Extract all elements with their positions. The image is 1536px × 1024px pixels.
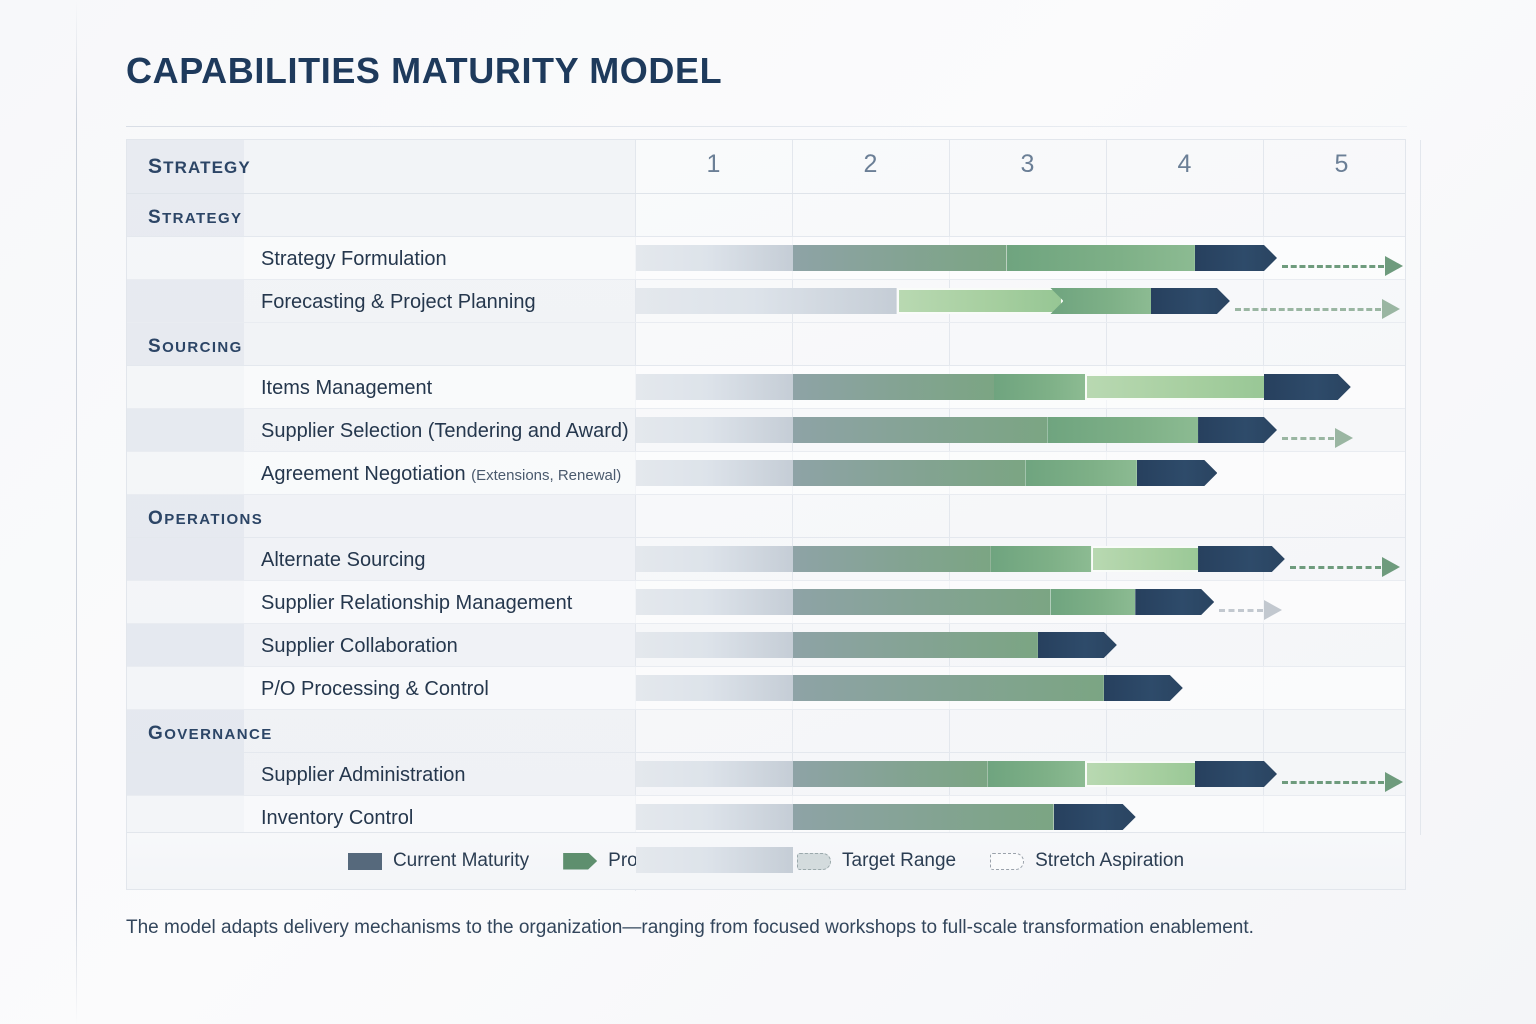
arrow-tip-icon [1382,557,1400,577]
section-header-strategy: STRATEGY [127,194,1405,237]
bar-segment-current [1135,589,1214,615]
stretch-aspiration-arrow [1219,609,1272,611]
maturity-bar[interactable] [636,417,1421,443]
maturity-bar[interactable] [636,288,1421,314]
table-row[interactable]: Agreement Negotiation (Extensions, Renew… [127,452,1405,495]
maturity-bar[interactable] [636,675,1421,701]
table-row[interactable]: Supplier Relationship Management [127,581,1405,624]
bar-track [635,538,1395,581]
section-title: SOURCING [148,336,243,358]
stretch-line [1219,609,1263,612]
column-header-level-1: 1 [635,150,792,179]
bar-segment-progress [793,761,988,787]
bar-segment-progress [793,374,994,400]
maturity-bar[interactable] [636,761,1421,787]
slide-background: Capabilities Maturity Model STRATEGY 123… [0,0,1536,1024]
section-header-sourcing: SOURCING [127,323,1405,366]
bar-segment-target [1085,374,1277,400]
bar-segment-baseline [636,675,793,701]
table-row[interactable]: Forecasting & Project Planning [127,280,1405,323]
bar-segment-progress [1050,589,1135,615]
table-row[interactable]: Supplier Collaboration [127,624,1405,667]
title-divider [126,126,1407,127]
bar-segment-baseline [636,245,793,271]
bar-segment-progress [988,761,1085,787]
row-label: Forecasting & Project Planning [261,291,536,314]
row-label: Supplier Relationship Management [261,592,572,615]
section-title: GOVERNANCE [148,723,273,745]
row-label: Supplier Selection (Tendering and Award) [261,420,629,443]
bar-segment-current [1198,546,1285,572]
table-row[interactable]: Supplier Administration [127,753,1405,796]
bar-track [635,667,1395,710]
bar-segment-progress [793,589,1050,615]
row-label: Items Management [261,377,432,400]
column-header-level-2: 2 [792,150,949,179]
arrow-tip-icon [1335,428,1353,448]
bar-segment-progress [793,632,1038,658]
legend-item-stretch-aspiration: Stretch Aspiration [990,850,1184,872]
legend-label: Target Range [842,850,956,872]
bar-segment-current [1195,761,1277,787]
stretch-aspiration-arrow [1282,437,1343,439]
bar-segment-progress [793,546,991,572]
column-header-level-4: 4 [1106,150,1263,179]
bar-segment-baseline [636,374,793,400]
bar-segment-progress [1007,245,1195,271]
stretch-line [1282,781,1384,784]
row-label: P/O Processing & Control [261,678,489,701]
legend-item-target-range: Target Range [797,850,956,872]
bar-track [635,753,1395,796]
bar-track [635,366,1395,409]
row-label: Supplier Administration [261,764,466,787]
bar-segment-progress [1050,288,1150,314]
section-title: STRATEGY [148,207,242,229]
row-label: Inventory Control [261,807,413,830]
stretch-line [1290,566,1381,569]
page-title: Capabilities Maturity Model [126,50,722,92]
bar-segment-baseline [636,847,793,873]
legend-item-current-maturity: Current Maturity [348,850,529,872]
stretch-line [1282,265,1384,268]
row-label: Alternate Sourcing [261,549,426,572]
bar-track [635,452,1395,495]
bar-segment-progress [994,374,1085,400]
arrow-tip-icon [1385,772,1403,792]
stretch-aspiration-arrow [1290,566,1390,568]
legend-label: Current Maturity [393,850,529,872]
bar-segment-baseline [636,546,793,572]
bar-segment-baseline [636,804,793,830]
maturity-bar[interactable] [636,460,1421,486]
table-row[interactable]: Strategy Formulation [127,237,1405,280]
stretch-aspiration-arrow [1235,308,1390,310]
row-label: Agreement Negotiation (Extensions, Renew… [261,463,621,486]
bar-segment-current [1195,245,1277,271]
bar-segment-baseline [636,761,793,787]
row-label: Supplier Collaboration [261,635,458,658]
bar-segment-current [1198,417,1277,443]
bar-track [635,237,1395,280]
bar-segment-progress [991,546,1091,572]
arrow-tip-icon [1264,600,1282,620]
bar-segment-current [1104,675,1183,701]
bar-track [635,624,1395,667]
table-row[interactable]: Items Management [127,366,1405,409]
bar-track [635,581,1395,624]
row-label: Strategy Formulation [261,248,447,271]
bar-track [635,280,1395,323]
bar-segment-progress [1025,460,1136,486]
stretch-aspiration-arrow [1282,781,1393,783]
bar-segment-baseline [636,288,897,314]
legend-swatch-icon [348,853,382,870]
maturity-bar[interactable] [636,245,1421,271]
maturity-bar[interactable] [636,632,1421,658]
column-header-level-3: 3 [949,150,1106,179]
maturity-bar[interactable] [636,374,1421,400]
bar-segment-progress [793,675,1104,701]
maturity-bar[interactable] [636,546,1421,572]
maturity-bar[interactable] [636,804,1421,830]
bar-track [635,409,1395,452]
bar-segment-target [897,288,1064,314]
section-header-operations: OPERATIONS [127,495,1405,538]
bar-segment-current [1137,460,1218,486]
table-row[interactable]: Alternate Sourcing [127,538,1405,581]
bar-segment-target [1085,761,1208,787]
table-row[interactable]: P/O Processing & Control [127,667,1405,710]
bar-segment-current [1264,374,1351,400]
bar-segment-progress [1047,417,1198,443]
legend-swatch-icon [797,853,831,870]
legend-swatch-icon [990,853,1024,870]
bar-segment-current [1038,632,1117,658]
header-corner-label: STRATEGY [148,155,251,179]
maturity-table: STRATEGY 12345 STRATEGYStrategy Formulat… [126,139,1406,890]
footer-note: The model adapts delivery mechanisms to … [126,908,1366,948]
arrow-tip-icon [1385,256,1403,276]
column-header-level-5: 5 [1263,150,1420,179]
bar-segment-progress [793,460,1025,486]
bar-segment-progress [793,245,1007,271]
bar-segment-target [1091,546,1211,572]
stretch-line [1282,437,1334,440]
bar-segment-current [1054,804,1136,830]
stretch-line [1235,308,1381,311]
table-row[interactable]: Supplier Selection (Tendering and Award) [127,409,1405,452]
legend-swatch-icon [563,853,597,870]
section-title: OPERATIONS [148,508,263,530]
bar-segment-baseline [636,417,793,443]
table-header: STRATEGY 12345 [127,140,1405,193]
arrow-tip-icon [1382,299,1400,319]
section-header-governance: GOVERNANCE [127,710,1405,753]
bar-segment-baseline [636,589,793,615]
legend-label: Stretch Aspiration [1035,850,1184,872]
maturity-bar[interactable] [636,589,1421,615]
bar-segment-current [1151,288,1230,314]
bar-segment-progress [793,417,1047,443]
bar-segment-baseline [636,460,793,486]
bar-segment-baseline [636,632,793,658]
stretch-aspiration-arrow [1282,265,1393,267]
bar-segment-progress [793,804,1054,830]
